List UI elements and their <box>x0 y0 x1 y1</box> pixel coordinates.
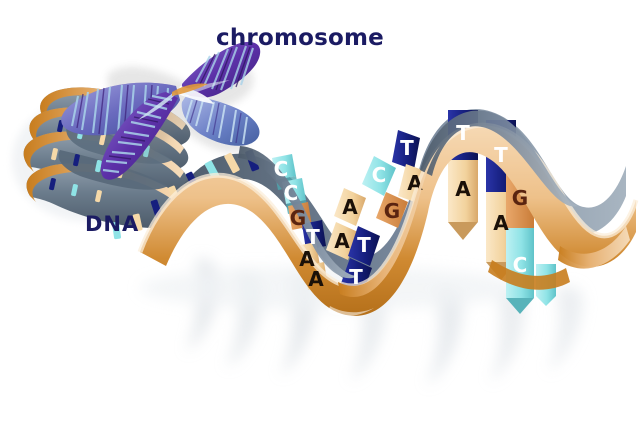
base-letter-t: T <box>400 136 414 160</box>
base-letter-a: A <box>334 229 350 253</box>
chromosome-arm-lower-right <box>182 96 260 146</box>
base-letter-g: G <box>290 206 306 230</box>
base-letter-t: T <box>357 233 371 257</box>
dna-chromosome-illustration: C C G T A A A A T T C G T <box>0 0 640 437</box>
base-letter-t: T <box>306 225 320 249</box>
base-letter-t: T <box>494 143 508 167</box>
base-letter-a: A <box>342 195 358 219</box>
label-chromosome: chromosome <box>216 25 384 51</box>
base-letter-a: A <box>493 211 509 235</box>
base-letter-c: C <box>284 181 299 205</box>
base-letter-g: G <box>384 199 400 223</box>
base-letter-a: A <box>308 267 324 291</box>
base-letter-c: C <box>274 157 289 181</box>
base-letter-t: T <box>456 121 470 145</box>
label-dna: DNA <box>85 212 139 236</box>
base-letter-a: A <box>455 177 471 201</box>
base-letter-c: C <box>372 163 387 187</box>
base-letter-g: G <box>512 186 528 210</box>
